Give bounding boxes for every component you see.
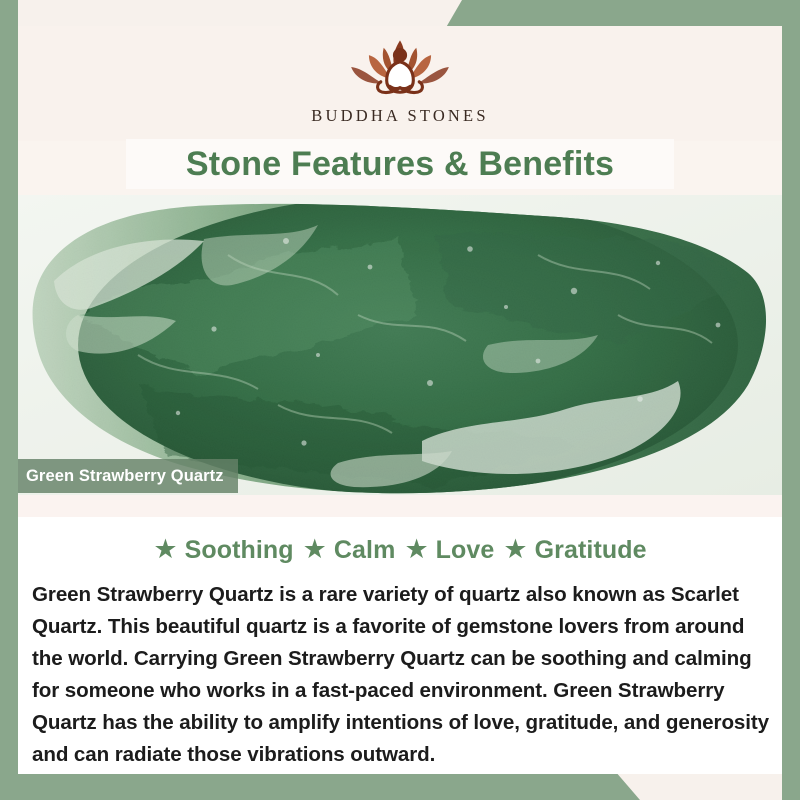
star-icon: ★	[503, 536, 527, 563]
frame-border-right	[782, 0, 800, 800]
description-paragraph: Green Strawberry Quartz is a rare variet…	[32, 579, 774, 771]
page-title: Stone Features & Benefits	[186, 145, 614, 184]
benefit-label: Soothing	[185, 536, 294, 565]
benefit-label: Gratitude	[535, 536, 647, 565]
brand-header: BUDDHA STONES	[18, 26, 782, 141]
content-panel: ★ Soothing ★ Calm ★ Love ★ Gratitude Gre…	[18, 495, 782, 774]
benefit-item: ★ Calm	[303, 536, 396, 565]
benefit-label: Calm	[334, 536, 396, 565]
frame-border-left	[0, 0, 18, 800]
photo-caption: Green Strawberry Quartz	[18, 459, 238, 493]
star-icon: ★	[303, 536, 327, 563]
benefit-label: Love	[436, 536, 495, 565]
benefit-item: ★ Soothing	[153, 536, 293, 565]
star-icon: ★	[404, 536, 428, 563]
benefits-row: ★ Soothing ★ Calm ★ Love ★ Gratitude	[18, 536, 782, 565]
brand-name: BUDDHA STONES	[311, 106, 488, 126]
title-banner: Stone Features & Benefits	[126, 139, 674, 189]
stone-infographic: BUDDHA STONES Stone Features & Benefits	[0, 0, 800, 800]
stone-photo-illustration	[18, 195, 782, 495]
star-icon: ★	[153, 536, 177, 563]
lotus-meditation-icon	[325, 30, 475, 104]
infographic-canvas: BUDDHA STONES Stone Features & Benefits	[18, 26, 782, 774]
benefit-item: ★ Gratitude	[503, 536, 646, 565]
stone-photo	[18, 195, 782, 495]
content-top-tint	[18, 495, 782, 517]
benefit-item: ★ Love	[404, 536, 494, 565]
